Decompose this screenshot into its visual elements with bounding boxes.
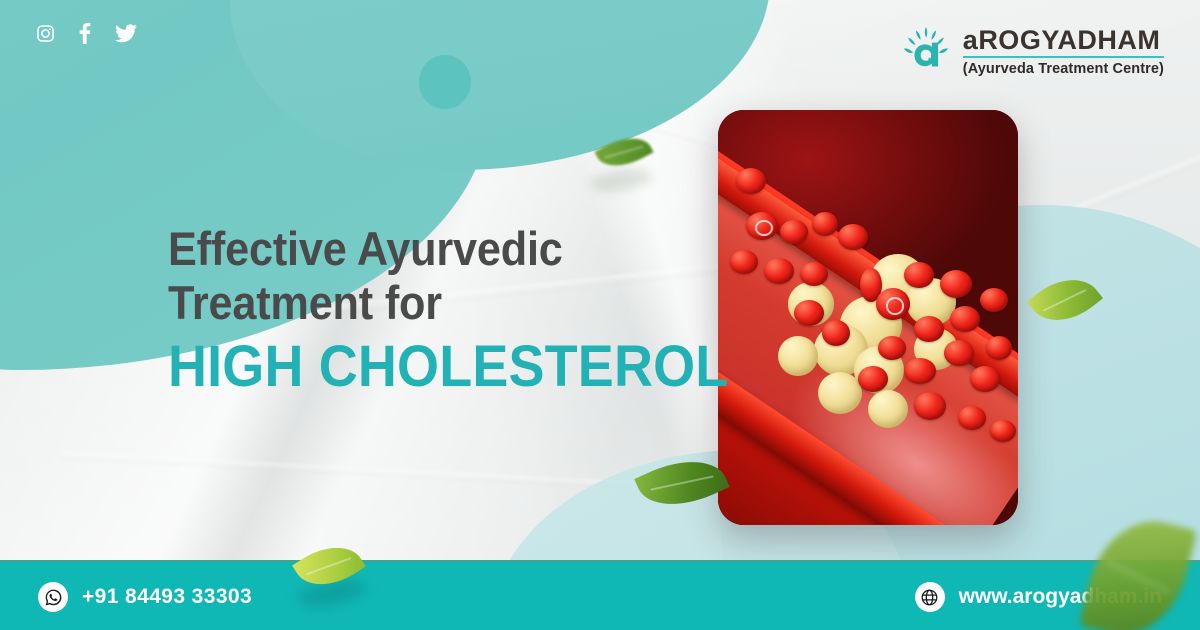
cholesterol-plaque xyxy=(868,390,908,428)
cholesterol-plaque xyxy=(778,336,818,376)
red-blood-cell xyxy=(878,336,906,360)
globe-icon xyxy=(915,582,945,612)
whatsapp-icon xyxy=(38,582,68,612)
headline-block: Effective Ayurvedic Treatment for HIGH C… xyxy=(168,222,771,398)
leaf-tree-a-icon xyxy=(900,21,952,82)
red-blood-cell xyxy=(904,262,934,288)
logo-wordmark: aROGYADHAM xyxy=(963,26,1164,54)
red-blood-cell xyxy=(950,306,980,332)
red-blood-cell-highlighted xyxy=(876,288,910,320)
red-blood-cell xyxy=(970,366,1000,392)
headline-line-3-accent: HIGH CHOLESTEROL xyxy=(168,336,728,398)
social-links xyxy=(36,22,137,49)
red-blood-cell xyxy=(858,366,888,392)
contact-footer-bar: +91 84493 33303 www.arogyadham.in xyxy=(0,560,1200,630)
twitter-icon[interactable] xyxy=(115,24,137,48)
red-blood-cell xyxy=(780,220,808,244)
cholesterol-plaque xyxy=(818,372,862,414)
red-blood-cell xyxy=(794,300,824,326)
red-blood-cell xyxy=(904,358,936,384)
red-blood-cell xyxy=(986,336,1012,360)
logo-tagline: (Ayurveda Treatment Centre) xyxy=(963,61,1164,77)
phone-number: +91 84493 33303 xyxy=(82,585,252,609)
instagram-icon[interactable] xyxy=(36,24,55,48)
red-blood-cell xyxy=(812,212,838,236)
red-blood-cell xyxy=(980,288,1008,312)
red-blood-cell xyxy=(944,340,974,366)
headline-line-1: Effective Ayurvedic xyxy=(168,222,722,276)
red-blood-cell xyxy=(990,420,1016,442)
red-blood-cell xyxy=(838,224,868,250)
logo-divider xyxy=(963,56,1164,58)
promo-banner: aROGYADHAM (Ayurveda Treatment Centre) E… xyxy=(0,0,1200,630)
brand-logo[interactable]: aROGYADHAM (Ayurveda Treatment Centre) xyxy=(900,21,1164,82)
red-blood-cell xyxy=(736,168,766,194)
red-blood-cell xyxy=(940,270,972,298)
headline-line-2: Treatment for xyxy=(168,276,722,330)
facebook-icon[interactable] xyxy=(79,22,91,49)
red-blood-cell xyxy=(914,392,946,420)
phone-contact[interactable]: +91 84493 33303 xyxy=(38,562,252,630)
red-blood-cell xyxy=(958,406,986,430)
red-blood-cell xyxy=(800,262,828,286)
red-blood-cell xyxy=(914,316,944,342)
teal-circle-accent xyxy=(419,55,471,109)
red-blood-cell xyxy=(822,320,850,346)
